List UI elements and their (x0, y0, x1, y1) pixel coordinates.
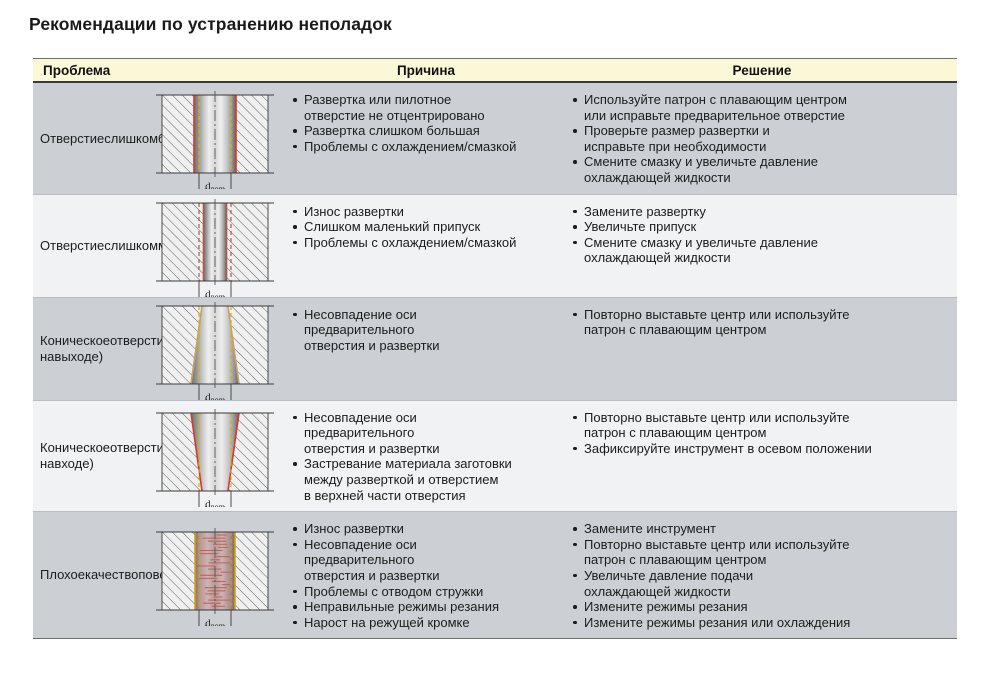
solution-item: Смените смазку и увеличьте давлениеохлаж… (571, 154, 951, 185)
cause-line: предварительного (304, 425, 561, 441)
solution-line: Измените режимы резания или охлаждения (584, 615, 951, 631)
solution-item: Измените режимы резания или охлаждения (571, 615, 951, 631)
cause-item: Развертка или пилотноеотверстие не отцен… (291, 92, 561, 123)
cause-line: Несовпадение оси (304, 410, 561, 426)
problem-line: Коническое (40, 440, 110, 455)
cause-line: Проблемы с охлаждением/смазкой (304, 235, 561, 251)
svg-text:dnom: dnom (205, 498, 226, 507)
cell-problem: Плохоекачествоповерхности (33, 512, 285, 638)
cause-line: Износ развертки (304, 521, 561, 537)
problem-line: входе) (54, 456, 93, 471)
solution-line: или исправьте предварительное отверстие (584, 108, 951, 124)
cause-item: Износ развертки (291, 204, 561, 220)
cell-solution: Замените разверткуУвеличьте припускСмени… (567, 195, 957, 297)
problem-line: Отверстие (40, 131, 104, 146)
svg-text:dnom: dnom (205, 288, 226, 297)
cause-line: в верхней части отверстия (304, 488, 561, 504)
solution-line: охлаждающей жидкости (584, 170, 951, 186)
cause-line: Проблемы с охлаждением/смазкой (304, 139, 561, 155)
cause-line: Слишком маленький припуск (304, 219, 561, 235)
cause-item: Проблемы с охлаждением/смазкой (291, 235, 561, 251)
cause-line: Проблемы с отводом стружки (304, 584, 561, 600)
cause-item: Несовпадение осипредварительногоотверсти… (291, 307, 561, 354)
cell-solution: Используйте патрон с плавающим центромил… (567, 83, 957, 194)
solution-item: Измените режимы резания (571, 599, 951, 615)
problem-line: качество (85, 567, 138, 582)
table-row: Отверстиеслишкомбольшое (33, 83, 957, 194)
solution-item: Увеличьте давление подачиохлаждающей жид… (571, 568, 951, 599)
cause-line: Неправильные режимы резания (304, 599, 561, 615)
solution-item: Смените смазку и увеличьте давлениеохлаж… (571, 235, 951, 266)
svg-text:dnom: dnom (205, 181, 226, 190)
solution-item: Замените развертку (571, 204, 951, 220)
cell-cause: Несовпадение осипредварительногоотверсти… (285, 401, 567, 512)
cell-problem: Отверстиеслишкоммаленькое (33, 195, 285, 297)
diagram-hole-too-large: dnom (148, 91, 282, 189)
solution-line: Замените развертку (584, 204, 951, 220)
cell-solution: Повторно выставьте центр или используйте… (567, 401, 957, 512)
table-body: Отверстиеслишкомбольшое (33, 83, 957, 638)
cause-item: Неправильные режимы резания (291, 599, 561, 615)
column-header-cause: Причина (285, 59, 567, 81)
solution-line: Увеличьте давление подачи (584, 568, 951, 584)
cause-item: Несовпадение осипредварительногоотверсти… (291, 410, 561, 457)
diagram-container: dnom (145, 87, 285, 189)
table-row: Коническоеотверстие(больше навыходе) (33, 297, 957, 400)
cause-line: предварительного (304, 322, 561, 338)
cell-problem: Коническоеотверстие(больше навходе) (33, 401, 285, 512)
cause-item: Проблемы с охлаждением/смазкой (291, 139, 561, 155)
problem-line: Плохое (40, 567, 85, 582)
solution-line: Зафиксируйте инструмент в осевом положен… (584, 441, 951, 457)
diagram-container: dnom (145, 405, 285, 507)
solution-line: Измените режимы резания (584, 599, 951, 615)
cause-list: Несовпадение осипредварительногоотверсти… (291, 307, 561, 354)
solution-list: Замените инструментПовторно выставьте це… (571, 521, 951, 630)
cause-item: Нарост на режущей кромке (291, 615, 561, 631)
cause-line: Несовпадение оси (304, 537, 561, 553)
solution-line: Смените смазку и увеличьте давление (584, 154, 951, 170)
problem-line: Отверстие (40, 238, 104, 253)
solution-item: Зафиксируйте инструмент в осевом положен… (571, 441, 951, 457)
cause-item: Слишком маленький припуск (291, 219, 561, 235)
problem-label: Плохоекачествоповерхности (33, 567, 145, 583)
problem-label: Отверстиеслишкомбольшое (33, 131, 145, 147)
cause-line: Износ развертки (304, 204, 561, 220)
column-header-solution: Решение (567, 59, 957, 81)
solution-line: Замените инструмент (584, 521, 951, 537)
cause-line: между разверткой и отверстием (304, 472, 561, 488)
cause-line: предварительного (304, 552, 561, 568)
diagram-container: dnom (145, 298, 285, 400)
cell-problem: Коническоеотверстие(больше навыходе) (33, 298, 285, 400)
solution-item: Проверьте размер развертки иисправьте пр… (571, 123, 951, 154)
solution-line: Повторно выставьте центр или используйте (584, 410, 951, 426)
cause-item: Износ развертки (291, 521, 561, 537)
svg-text:dnom: dnom (205, 391, 226, 400)
solution-line: Повторно выставьте центр или используйте (584, 307, 951, 323)
problem-label: Коническоеотверстие(больше навыходе) (33, 333, 145, 364)
cell-problem: Отверстиеслишкомбольшое (33, 83, 285, 194)
cause-list: Износ разверткиНесовпадение осипредварит… (291, 521, 561, 630)
cause-line: Нарост на режущей кромке (304, 615, 561, 631)
solution-line: охлаждающей жидкости (584, 250, 951, 266)
solution-line: Проверьте размер развертки и (584, 123, 951, 139)
cell-cause: Износ разверткиНесовпадение осипредварит… (285, 512, 567, 638)
solution-line: Используйте патрон с плавающим центром (584, 92, 951, 108)
solution-item: Замените инструмент (571, 521, 951, 537)
problem-line: Коническое (40, 333, 110, 348)
cause-line: Несовпадение оси (304, 307, 561, 323)
cause-line: отверстие не отцентрировано (304, 108, 561, 124)
cell-cause: Развертка или пилотноеотверстие не отцен… (285, 83, 567, 194)
troubleshooting-table: Проблема Причина Решение Отверстиеслишко… (33, 58, 957, 639)
problem-label: Коническоеотверстие(больше навходе) (33, 440, 145, 471)
cell-solution: Повторно выставьте центр или используйте… (567, 298, 957, 400)
solution-item: Повторно выставьте центр или используйте… (571, 537, 951, 568)
cause-list: Развертка или пилотноеотверстие не отцен… (291, 92, 561, 154)
solution-list: Повторно выставьте центр или используйте… (571, 307, 951, 338)
solution-item: Используйте патрон с плавающим центромил… (571, 92, 951, 123)
problem-label: Отверстиеслишкоммаленькое (33, 238, 145, 254)
table-row: Коническоеотверстие(больше навходе) (33, 400, 957, 512)
solution-line: патрон с плавающим центром (584, 425, 951, 441)
solution-line: исправьте при необходимости (584, 139, 951, 155)
cause-line: отверстия и развертки (304, 441, 561, 457)
solution-list: Повторно выставьте центр или используйте… (571, 410, 951, 457)
cause-item: Застревание материала заготовкимежду раз… (291, 456, 561, 503)
cause-line: Застревание материала заготовки (304, 456, 561, 472)
solution-line: Увеличьте припуск (584, 219, 951, 235)
cause-item: Несовпадение осипредварительногоотверсти… (291, 537, 561, 584)
diagram-container: dnom (145, 195, 285, 297)
problem-line: выходе) (54, 349, 103, 364)
solution-list: Замените разверткуУвеличьте припускСмени… (571, 204, 951, 266)
table-row: Плохоекачествоповерхности (33, 511, 957, 638)
page-title: Рекомендации по устранению неполадок (29, 14, 392, 35)
cause-line: отверстия и развертки (304, 338, 561, 354)
diagram-taper-wide-at-entry: dnom (148, 409, 282, 507)
diagram-container: dnom (145, 524, 285, 626)
solution-line: Смените смазку и увеличьте давление (584, 235, 951, 251)
cause-list: Износ разверткиСлишком маленький припуск… (291, 204, 561, 251)
cell-cause: Износ разверткиСлишком маленький припуск… (285, 195, 567, 297)
solution-line: охлаждающей жидкости (584, 584, 951, 600)
cell-cause: Несовпадение осипредварительногоотверсти… (285, 298, 567, 400)
cause-line: отверстия и развертки (304, 568, 561, 584)
svg-text:dnom: dnom (205, 618, 226, 627)
solution-line: патрон с плавающим центром (584, 552, 951, 568)
solution-line: патрон с плавающим центром (584, 322, 951, 338)
diagram-poor-surface-finish: dnom (148, 528, 282, 626)
troubleshooting-page: Рекомендации по устранению неполадок Про… (0, 0, 990, 697)
cause-line: Развертка или пилотное (304, 92, 561, 108)
cause-item: Проблемы с отводом стружки (291, 584, 561, 600)
solution-item: Увеличьте припуск (571, 219, 951, 235)
solution-item: Повторно выставьте центр или используйте… (571, 307, 951, 338)
cause-item: Развертка слишком большая (291, 123, 561, 139)
solution-line: Повторно выставьте центр или используйте (584, 537, 951, 553)
column-header-problem: Проблема (33, 59, 285, 81)
diagram-taper-wide-at-exit: dnom (148, 302, 282, 400)
solution-list: Используйте патрон с плавающим центромил… (571, 92, 951, 186)
table-row: Отверстиеслишкоммаленькое (33, 194, 957, 297)
solution-item: Повторно выставьте центр или используйте… (571, 410, 951, 441)
cause-list: Несовпадение осипредварительногоотверсти… (291, 410, 561, 504)
cell-solution: Замените инструментПовторно выставьте це… (567, 512, 957, 638)
diagram-hole-too-small: dnom (148, 199, 282, 297)
cause-line: Развертка слишком большая (304, 123, 561, 139)
table-header-row: Проблема Причина Решение (33, 59, 957, 83)
